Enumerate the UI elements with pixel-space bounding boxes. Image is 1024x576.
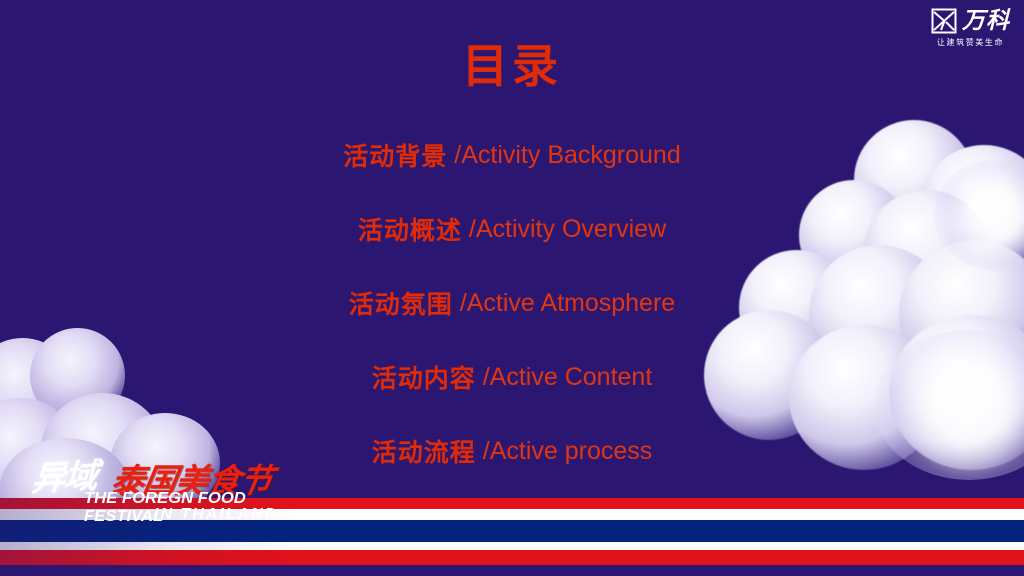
toc-item-3[interactable]: 活动氛围 /Active Atmosphere [0, 266, 1024, 340]
festival-logo-en-line2: IN THAILAND [154, 506, 278, 524]
toc-item-label-cn: 活动氛围 [349, 285, 453, 321]
stripe-white-bottom [0, 542, 1024, 550]
toc-item-label-en: /Active Content [483, 363, 653, 392]
toc-item-2[interactable]: 活动概述 /Activity Overview [0, 192, 1024, 266]
toc-item-label-cn: 活动背景 [343, 137, 447, 173]
toc-item-label-cn: 活动内容 [372, 359, 476, 395]
page-title: 目录 [0, 30, 1024, 96]
toc-item-1[interactable]: 活动背景 /Activity Background [0, 118, 1024, 192]
table-of-contents: 活动背景 /Activity Background 活动概述 /Activity… [0, 118, 1024, 488]
presentation-slide: 万科 让建筑赞美生命 目录 活动背景 /Activity Background … [0, 0, 1024, 576]
festival-logo: 异域 泰国美食节 THE FOREGN FOOD FESTIVAL IN THA… [24, 446, 314, 524]
stripe-red-bottom [0, 550, 1024, 565]
toc-item-label-en: /Active process [483, 437, 653, 466]
toc-item-label-cn: 活动概述 [358, 211, 462, 247]
toc-item-4[interactable]: 活动内容 /Active Content [0, 340, 1024, 414]
toc-item-label-en: /Activity Overview [469, 215, 666, 244]
toc-item-label-en: /Activity Background [454, 141, 681, 170]
toc-item-label-en: /Active Atmosphere [460, 289, 675, 318]
toc-item-label-cn: 活动流程 [372, 433, 476, 469]
